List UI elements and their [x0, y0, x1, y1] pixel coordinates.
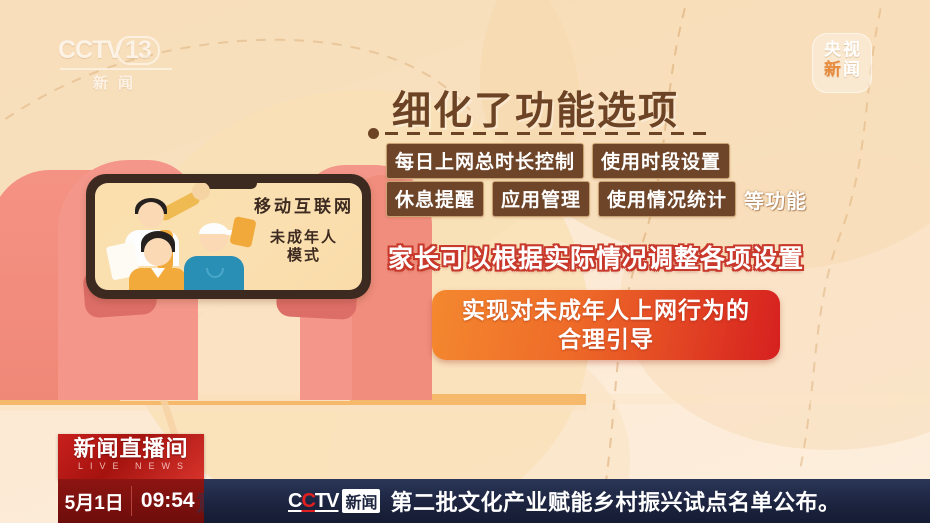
- callout-box: 实现对未成年人上网行为的 合理引导: [432, 290, 780, 360]
- yangshi-xinwen-logo: 央 视 新 闻: [812, 33, 872, 93]
- phone-subtitle-2: 模式: [254, 247, 354, 265]
- callout-line-2: 合理引导: [558, 325, 654, 354]
- logo-char-shi: 视: [843, 40, 860, 60]
- ticker-tv: TV: [315, 490, 339, 513]
- tag-usage-statistics: 使用情况统计: [598, 181, 736, 217]
- tag-app-management: 应用管理: [492, 181, 590, 217]
- logo-char-yang: 央: [824, 40, 841, 60]
- logo-line-1: 央 视: [818, 40, 866, 60]
- cartoon-family-illustration: [101, 183, 271, 290]
- callout-line-1: 实现对未成年人上网行为的: [462, 296, 750, 325]
- tag-row-2: 休息提醒 应用管理 使用情况统计 等功能: [386, 181, 807, 217]
- tag-row-1: 每日上网总时长控制 使用时段设置: [386, 143, 730, 179]
- desk-highlight: [586, 394, 930, 404]
- desk-shadow: [0, 405, 586, 411]
- broadcast-screen: 移动互联网 未成年人 模式 CCTV13 新闻 央 视 新 闻 细化了功能选项 …: [0, 0, 930, 523]
- dashed-rule: [385, 132, 708, 135]
- tag-daily-time-control: 每日上网总时长控制: [386, 143, 584, 179]
- bullet-dot-icon: [368, 128, 379, 139]
- logo-line-2: 新 闻: [818, 60, 866, 80]
- broadcast-time: 09:54: [132, 489, 205, 513]
- program-badge: 新闻直播间 LIVE NEWS: [58, 434, 204, 479]
- cctv-text: CCTV: [58, 36, 122, 64]
- ticker-c2: C: [301, 490, 314, 513]
- phone-screen-text: 移动互联网 未成年人 模式: [254, 197, 354, 264]
- ticker-c1: C: [288, 490, 301, 513]
- phone-screen: 移动互联网 未成年人 模式: [95, 183, 362, 290]
- channel-number: 13: [116, 36, 160, 65]
- ticker-cctv-logo: C C TV 新闻: [288, 489, 380, 513]
- date-time-box: 5月1日 09:54: [58, 479, 204, 523]
- ticker-brand-tag: 新闻: [342, 489, 380, 513]
- news-ticker-bar: C C TV 新闻 第二批文化产业赋能乡村振兴试点名单公布。: [204, 479, 930, 523]
- cctv13-underline: [60, 68, 172, 70]
- broadcast-date: 5月1日: [58, 488, 131, 515]
- phone-subtitle-1: 未成年人: [254, 229, 354, 247]
- program-name-cn: 新闻直播间: [58, 437, 204, 460]
- ticker-headline: 第二批文化产业赋能乡村振兴试点名单公布。: [390, 485, 840, 517]
- tag-suffix-other-functions: 等功能: [744, 185, 807, 214]
- parent-adjust-line: 家长可以根据实际情况调整各项设置: [388, 239, 804, 275]
- headline-underline: [368, 128, 708, 138]
- tag-usage-period: 使用时段设置: [592, 143, 730, 179]
- tag-rest-reminder: 休息提醒: [386, 181, 484, 217]
- cctv13-wordmark: CCTV13: [58, 36, 178, 65]
- cctv13-sublabel: 新闻: [58, 72, 178, 93]
- program-name-en: LIVE NEWS: [58, 461, 204, 471]
- cctv13-logo: CCTV13 新闻: [58, 36, 178, 94]
- logo-char-xin: 新: [824, 60, 841, 80]
- phone-title: 移动互联网: [254, 197, 354, 217]
- phone-illustration: 移动互联网 未成年人 模式: [86, 174, 371, 299]
- logo-char-wen: 闻: [843, 60, 860, 80]
